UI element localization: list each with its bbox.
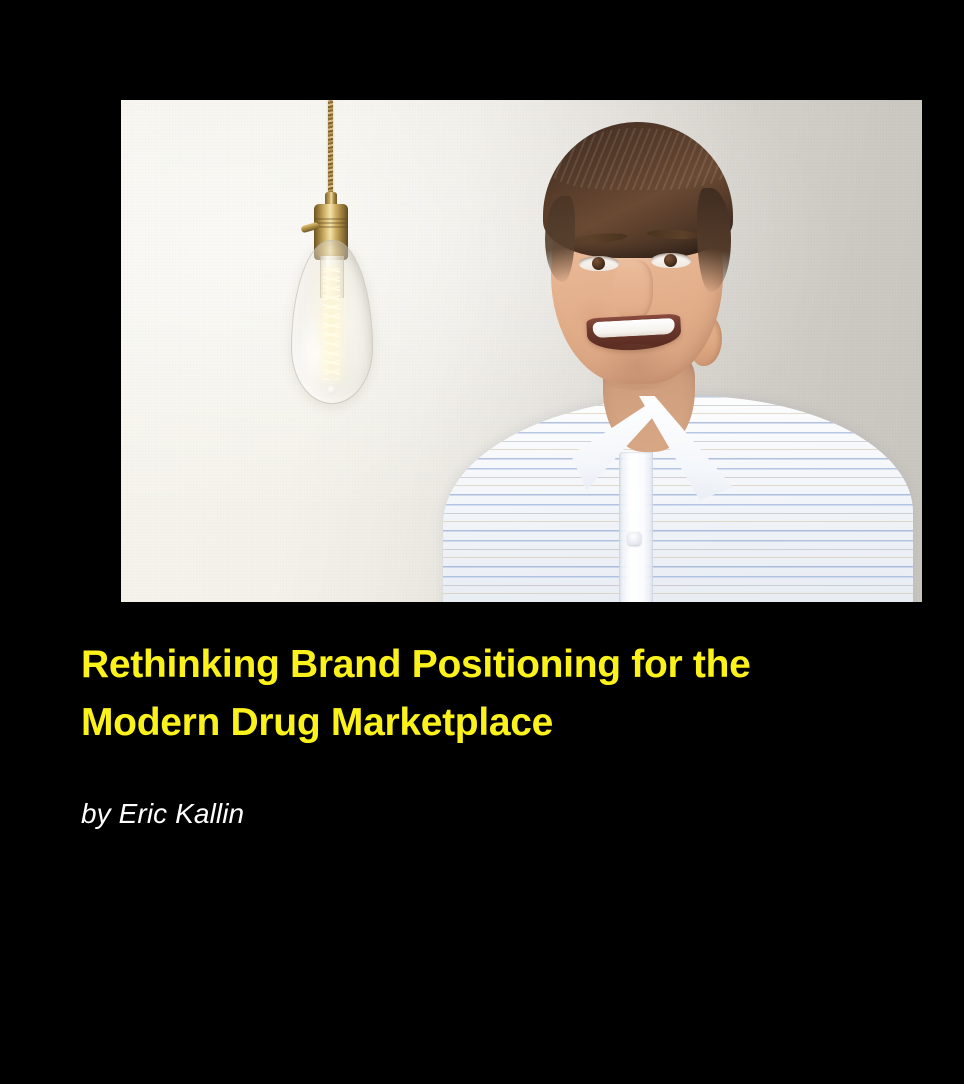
shirt-button (628, 532, 641, 545)
bulb-spiral-filament (323, 268, 340, 380)
shirt-placket (619, 452, 653, 602)
pendant-light-bulb (281, 100, 401, 400)
article-text-block: Rethinking Brand Positioning for the Mod… (81, 636, 881, 830)
portrait-teeth (592, 318, 675, 338)
portrait-eye-right (651, 253, 691, 268)
article-hero-page: Rethinking Brand Positioning for the Mod… (0, 0, 964, 1084)
article-byline: by Eric Kallin (81, 752, 881, 830)
portrait-nose (613, 260, 653, 322)
portrait-hair-temple-left (545, 196, 575, 282)
portrait-pupil-right (664, 254, 677, 267)
bulb-glass-tip (327, 386, 336, 395)
portrait-pupil-left (592, 257, 605, 270)
hero-image (121, 100, 922, 602)
article-title: Rethinking Brand Positioning for the Mod… (81, 636, 841, 752)
portrait-chin-shadow (585, 344, 689, 390)
author-portrait (421, 100, 922, 602)
portrait-eye-left (579, 256, 619, 271)
bulb-cord (328, 100, 333, 196)
